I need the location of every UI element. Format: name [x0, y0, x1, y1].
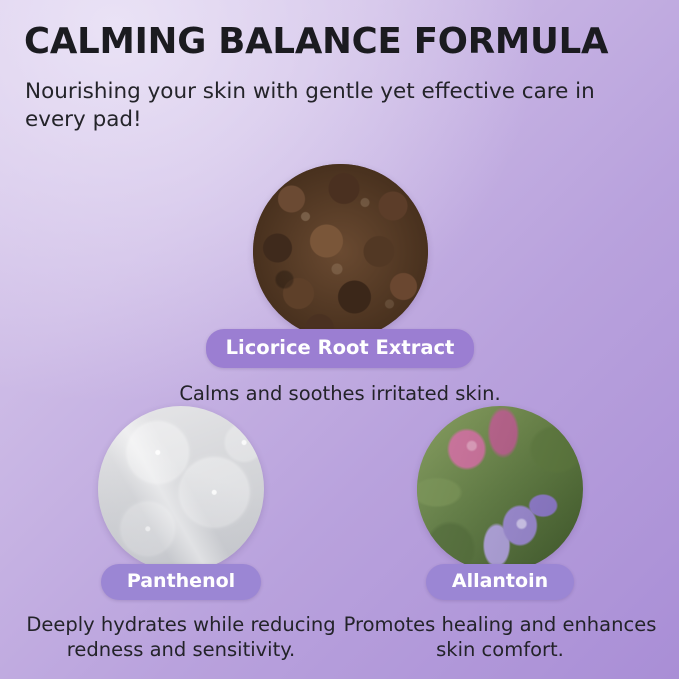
ingredient-card-licorice-root-extract: Licorice Root Extract Calms and soothes … — [150, 164, 530, 406]
ingredient-name-badge-licorice: Licorice Root Extract — [206, 329, 475, 368]
ingredient-description-panthenol: Deeply hydrates while reducing redness a… — [18, 612, 344, 663]
page-title: CALMING BALANCE FORMULA — [24, 22, 664, 61]
ingredient-description-allantoin: Promotes healing and enhances skin comfo… — [337, 612, 663, 663]
licorice-root-image — [253, 164, 428, 339]
allantoin-flower-image — [417, 406, 583, 572]
licorice-root-photo — [253, 164, 428, 339]
page-subtitle: Nourishing your skin with gentle yet eff… — [25, 78, 640, 135]
allantoin-flower-photo — [417, 406, 583, 572]
ingredient-name-badge-panthenol: Panthenol — [101, 564, 261, 600]
panthenol-molecule-image — [98, 406, 264, 572]
ingredient-card-allantoin: Allantoin Promotes healing and enhances … — [337, 406, 663, 663]
ingredient-infographic-poster: CALMING BALANCE FORMULA Nourishing your … — [0, 0, 679, 679]
ingredient-description-licorice: Calms and soothes irritated skin. — [150, 381, 530, 406]
panthenol-molecule-photo — [98, 406, 264, 572]
ingredient-card-panthenol: Panthenol Deeply hydrates while reducing… — [18, 406, 344, 663]
ingredient-name-badge-allantoin: Allantoin — [426, 564, 574, 600]
